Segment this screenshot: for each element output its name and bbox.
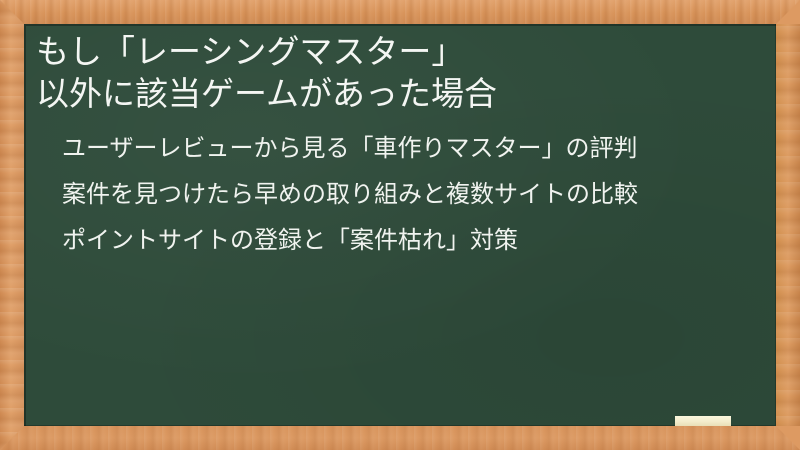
board-list-item-2: 案件を見つけたら早めの取り組みと複数サイトの比較 xyxy=(62,179,758,211)
board-list-item-3: ポイントサイトの登録と「案件枯れ」対策 xyxy=(62,225,758,257)
chalk-stick-icon xyxy=(675,416,731,426)
board-content: もし「レーシングマスター」以外に該当ゲームがあった場合 ユーザーレビューから見る… xyxy=(24,24,776,256)
board-title: もし「レーシングマスター」以外に該当ゲームがあった場合 xyxy=(34,31,758,115)
board-list-item-1: ユーザーレビューから見る「車作りマスター」の評判 xyxy=(62,133,758,165)
frame-right-plank xyxy=(776,0,800,450)
frame-top-plank xyxy=(0,0,800,24)
board-surface: もし「レーシングマスター」以外に該当ゲームがあった場合 ユーザーレビューから見る… xyxy=(24,24,776,426)
board-topic-list: ユーザーレビューから見る「車作りマスター」の評判 案件を見つけたら早めの取り組み… xyxy=(34,133,758,256)
frame-bottom-plank xyxy=(0,426,800,450)
chalkboard-graphic: もし「レーシングマスター」以外に該当ゲームがあった場合 ユーザーレビューから見る… xyxy=(0,0,800,450)
frame-left-plank xyxy=(0,0,24,450)
